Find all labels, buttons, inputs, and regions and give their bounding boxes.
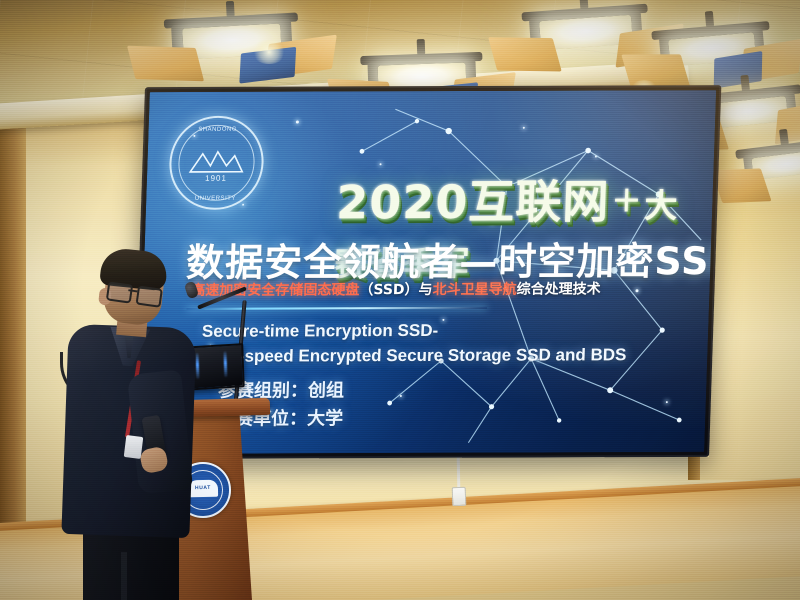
english-line-2: High-speed Encrypted Secure Storage SSD … xyxy=(201,343,627,369)
barn-door-amber-left xyxy=(711,168,771,203)
barn-door-amber-left xyxy=(488,37,561,71)
glasses-lens-right xyxy=(136,286,163,308)
barn-door-amber-left xyxy=(127,46,204,82)
headline-internet-plus: 互联网 xyxy=(467,174,610,228)
glasses-lens-left xyxy=(106,281,133,303)
plus-symbol: ＋ xyxy=(611,184,643,219)
headline-year: 2020 xyxy=(335,175,469,229)
screen-english-block: Secure-time Encryption SSD- High-speed E… xyxy=(201,318,628,369)
auditorium-stage-photo: SHANDONG 1901 UNIVERSITY 2020互联网＋大赛省季军 数… xyxy=(0,0,800,600)
english-line-1: Secure-time Encryption SSD- xyxy=(201,318,627,344)
subtitle-part-3: 北斗卫星导航 xyxy=(432,282,517,298)
subtitle-part-2: （SSD）与 xyxy=(359,282,433,298)
outlet-cable xyxy=(457,455,461,489)
subtitle-part-1: 高速加密安全存储固态硬盘 xyxy=(191,282,360,299)
wall-outlet-plate xyxy=(452,487,467,506)
presenter xyxy=(55,252,205,600)
screen-subtitle: 高速加密安全存储固态硬盘（SSD）与北斗卫星导航综合处理技术 xyxy=(191,278,601,299)
stage-flood-light xyxy=(171,11,294,73)
presenter-legs xyxy=(83,528,179,600)
stage-flood-light xyxy=(658,20,766,77)
subtitle-part-4: 综合处理技术 xyxy=(516,281,601,297)
light-mount-arm xyxy=(417,39,426,55)
light-mount-arm xyxy=(226,1,235,17)
barn-door-amber-left xyxy=(621,54,690,87)
presenter-leg-seam xyxy=(121,552,127,600)
divider-line xyxy=(187,307,487,310)
stage-flood-light xyxy=(528,2,643,62)
presenter-badge xyxy=(124,435,144,459)
monitor-glow-right xyxy=(223,351,227,377)
